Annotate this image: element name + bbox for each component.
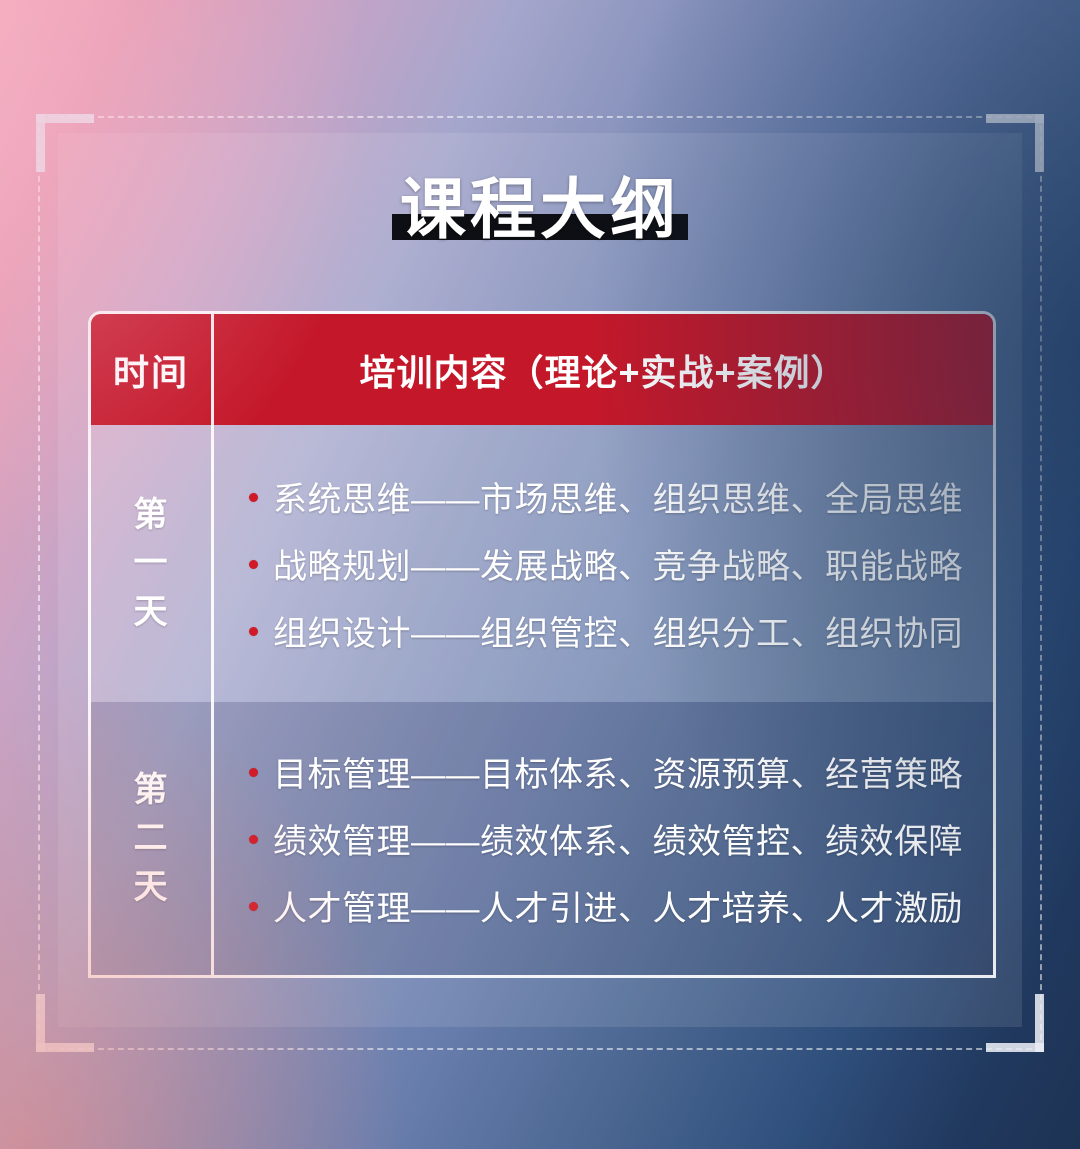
bullet-dot-icon <box>249 627 258 636</box>
day-char: 一 <box>134 539 169 587</box>
corner-bracket-top-right <box>986 114 1044 172</box>
list-item-text: 目标管理——目标体系、资源预算、经营策略 <box>273 747 963 796</box>
day-label-two: 第 二 天 <box>91 702 214 975</box>
bullet-dot-icon <box>249 768 258 777</box>
day-char: 二 <box>134 814 169 862</box>
list-item-text: 系统思维——市场思维、组织思维、全局思维 <box>273 472 963 521</box>
bullet-dot-icon <box>249 560 258 569</box>
day-char: 第 <box>134 491 169 539</box>
list-item: 组织设计——组织管控、组织分工、组织协同 <box>249 606 973 655</box>
table-header-time: 时间 <box>91 314 214 425</box>
bullet-dot-icon <box>249 835 258 844</box>
list-item: 系统思维——市场思维、组织思维、全局思维 <box>249 472 973 521</box>
page-title: 课程大纲 <box>400 175 680 244</box>
page-title-wrap: 课程大纲 <box>0 175 1080 244</box>
poster-canvas: 课程大纲 时间 培训内容（理论+实战+案例） 第 一 天 系统思维——市场思维、… <box>0 0 1080 1149</box>
list-item-text: 组织设计——组织管控、组织分工、组织协同 <box>273 606 963 655</box>
table-row: 第 二 天 目标管理——目标体系、资源预算、经营策略 绩效管理——绩效体系、绩效… <box>91 702 993 975</box>
page-title-box: 课程大纲 <box>400 175 680 244</box>
table-row: 第 一 天 系统思维——市场思维、组织思维、全局思维 战略规划——发展战略、竞争… <box>91 425 993 702</box>
day-two-content: 目标管理——目标体系、资源预算、经营策略 绩效管理——绩效体系、绩效管控、绩效保… <box>214 702 993 975</box>
day-one-content: 系统思维——市场思维、组织思维、全局思维 战略规划——发展战略、竞争战略、职能战… <box>214 425 993 702</box>
list-item: 战略规划——发展战略、竞争战略、职能战略 <box>249 539 973 588</box>
corner-bracket-bottom-right <box>986 994 1044 1052</box>
day-char: 天 <box>134 588 169 636</box>
corner-bracket-bottom-left <box>36 994 94 1052</box>
list-item-text: 绩效管理——绩效体系、绩效管控、绩效保障 <box>273 814 963 863</box>
day-label-one: 第 一 天 <box>91 425 214 702</box>
list-item: 人才管理——人才引进、人才培养、人才激励 <box>249 881 973 930</box>
corner-bracket-top-left <box>36 114 94 172</box>
list-item: 目标管理——目标体系、资源预算、经营策略 <box>249 747 973 796</box>
list-item-text: 战略规划——发展战略、竞争战略、职能战略 <box>273 539 963 588</box>
course-outline-table: 时间 培训内容（理论+实战+案例） 第 一 天 系统思维——市场思维、组织思维、… <box>88 311 996 978</box>
bullet-dot-icon <box>249 902 258 911</box>
day-char: 天 <box>134 863 169 911</box>
bullet-dot-icon <box>249 493 258 502</box>
day-char: 第 <box>134 766 169 814</box>
list-item: 绩效管理——绩效体系、绩效管控、绩效保障 <box>249 814 973 863</box>
table-header-row: 时间 培训内容（理论+实战+案例） <box>91 314 993 425</box>
table-header-content: 培训内容（理论+实战+案例） <box>214 314 993 425</box>
list-item-text: 人才管理——人才引进、人才培养、人才激励 <box>273 881 963 930</box>
